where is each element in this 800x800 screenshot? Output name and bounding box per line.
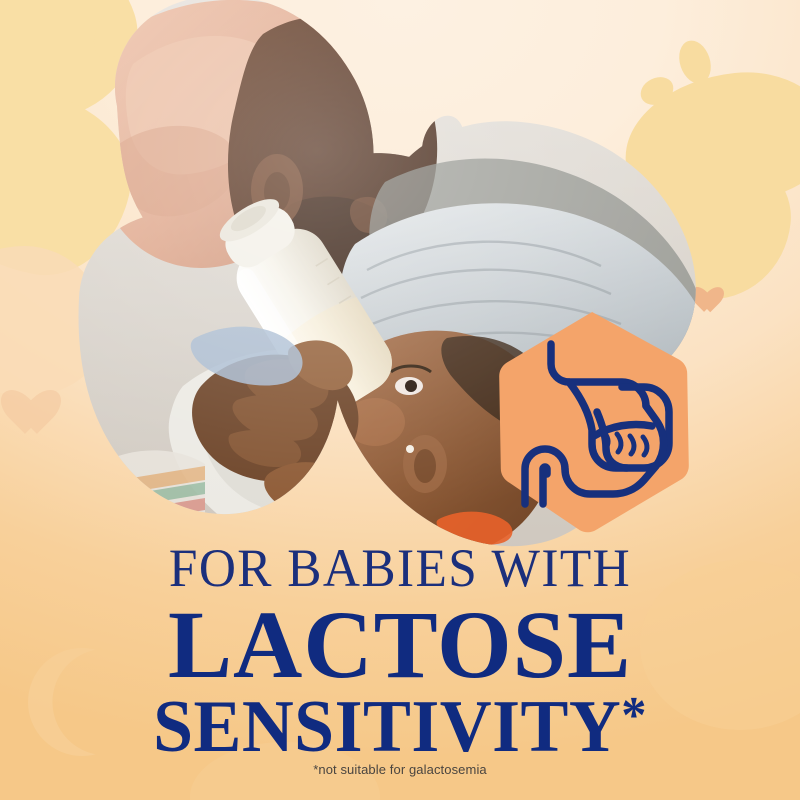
footnote-text: *not suitable for galactosemia [0, 762, 800, 777]
heart-icon-left [4, 370, 58, 424]
poster-canvas: FOR BABIES WITH LACTOSE SENSITIVITY* *no… [0, 0, 800, 800]
headline-kicker: FOR BABIES WITH [20, 540, 780, 596]
headline-sub: SENSITIVITY* [12, 690, 788, 764]
headline-block: FOR BABIES WITH LACTOSE SENSITIVITY* [0, 540, 800, 764]
headline-main: LACTOSE [0, 602, 800, 688]
footnote-marker: * [621, 687, 647, 744]
headline-sub-text: SENSITIVITY [153, 686, 621, 768]
stomach-badge [494, 308, 694, 534]
